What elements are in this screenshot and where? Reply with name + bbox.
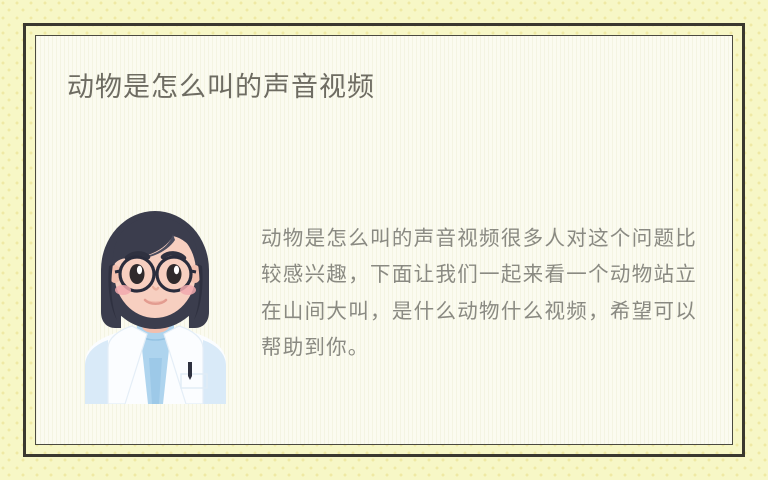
- article-frame-outer: 动物是怎么叫的声音视频: [23, 23, 745, 457]
- female-doctor-avatar-icon: [85, 208, 226, 404]
- page-title: 动物是怎么叫的声音视频: [67, 70, 375, 104]
- avatar: [85, 208, 226, 404]
- page-backdrop: 动物是怎么叫的声音视频: [0, 0, 768, 480]
- article-card: 动物是怎么叫的声音视频: [35, 35, 733, 445]
- article-content-row: 动物是怎么叫的声音视频很多人对这个问题比较感兴趣，下面让我们一起来看一个动物站立…: [36, 199, 732, 439]
- article-body: 动物是怎么叫的声音视频很多人对这个问题比较感兴趣，下面让我们一起来看一个动物站立…: [261, 220, 697, 366]
